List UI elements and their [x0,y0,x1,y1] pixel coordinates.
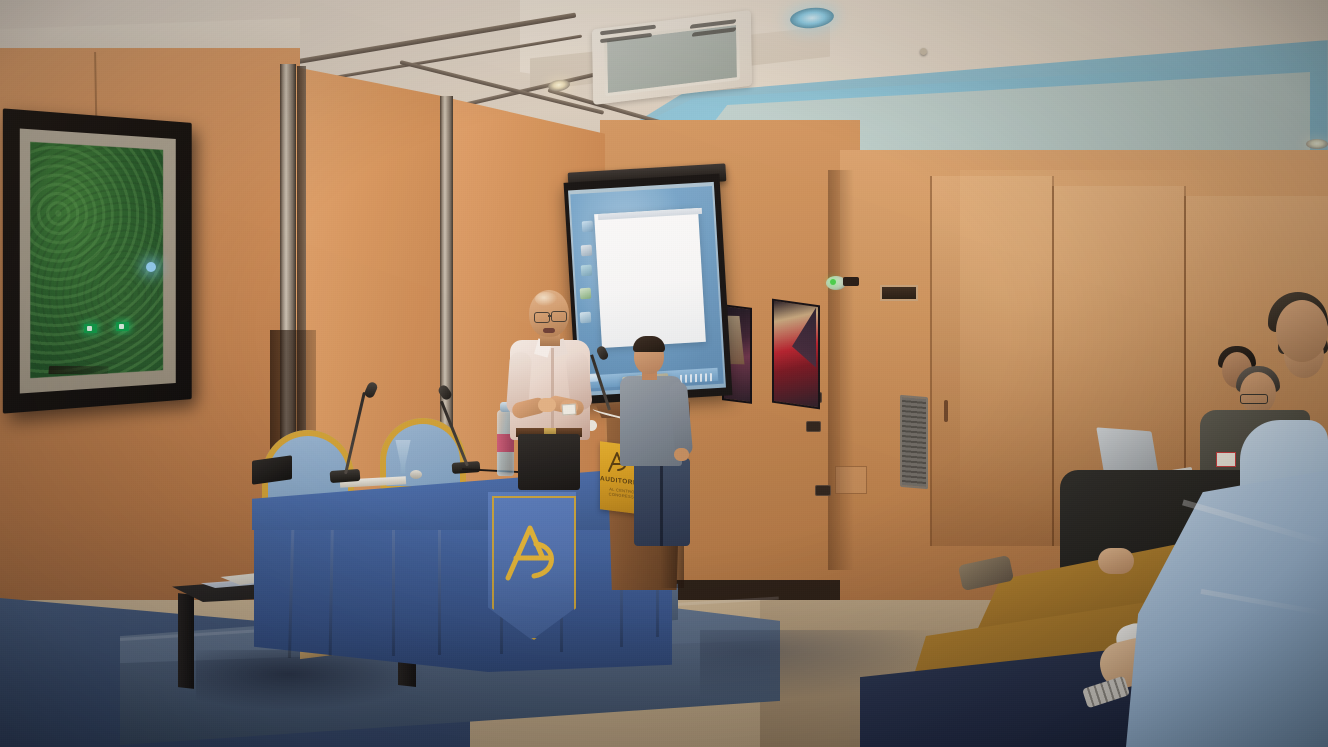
podium-attendant-hand [674,448,689,461]
desktop-icon [581,265,593,277]
audience-hand [1098,548,1134,574]
wall-vent-slot [880,285,918,301]
speaker-trousers [518,434,580,490]
painting-texture [30,142,163,378]
desktop-icon [581,245,593,257]
table-puck [410,470,422,479]
side-table-leg [178,593,194,689]
podium-attendant-hair [633,336,665,352]
desktop-icon [580,288,592,300]
recessed-downlight [1306,139,1328,149]
wall-outlet[interactable] [815,485,831,496]
desktop-icon [582,221,594,233]
conference-room-photo: LUC TABARY AUDITORIUM AL CENTRO CONGRESS… [0,0,1328,747]
speaker-hand [538,398,556,412]
glasses-icon [534,312,550,323]
emergency-light-indicator [830,279,836,285]
glasses-bridge [548,315,552,317]
glasses-icon [551,311,567,322]
painting-signature [48,366,108,374]
ad-monogram-logo-icon [498,520,568,586]
shirt-placket [551,348,554,430]
wall-corner-shadow [828,170,854,570]
wall-door-panel[interactable] [930,176,1054,546]
trouser-seam [660,462,663,546]
exit-sign-reflection [84,324,97,333]
exit-sign-reflection [116,322,129,331]
wall-access-plate [835,466,867,494]
audience-member-head [1240,372,1276,414]
sprinkler-head-icon [920,48,927,55]
head-highlight [535,292,557,306]
wall-air-grille [900,395,928,489]
foreground-person-head [1276,300,1328,362]
wall-speaker-icon [843,277,859,286]
wall-outlet[interactable] [806,421,821,432]
speaker-mouth [543,328,555,333]
projected-document-window [594,208,706,348]
door-handle[interactable] [944,400,948,422]
attendee-badge [1216,452,1236,467]
light-reflection-spot [146,262,156,272]
speaker-badge [562,404,577,416]
glasses-icon [1240,394,1268,404]
desktop-icon [580,312,592,324]
